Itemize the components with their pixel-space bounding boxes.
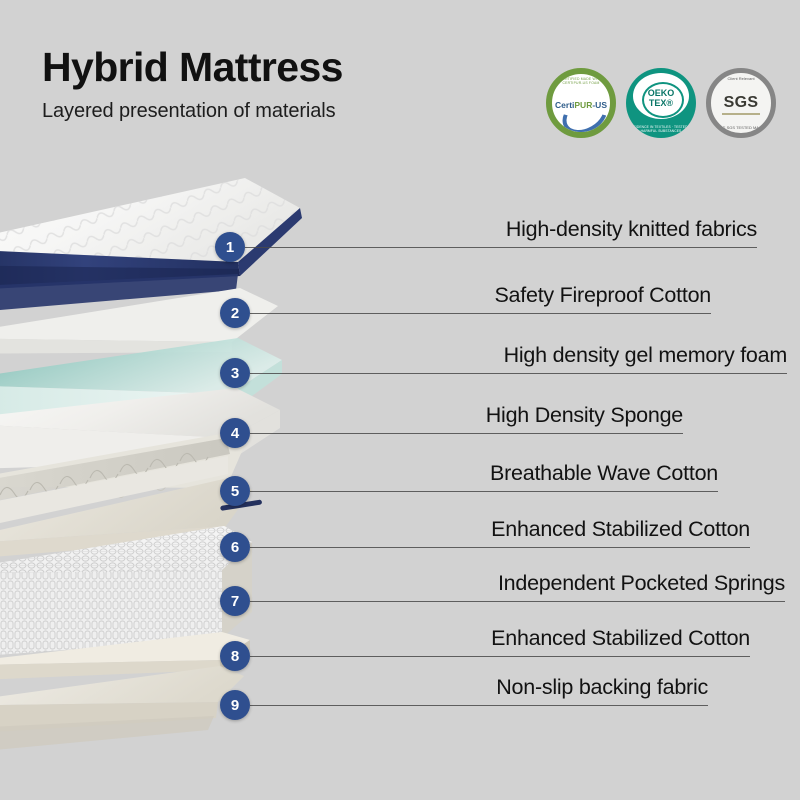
leader-line-8: [250, 656, 750, 657]
exploded-mattress-illustration: [0, 170, 330, 770]
marker-2[interactable]: 2: [220, 298, 250, 328]
marker-1[interactable]: 1: [215, 232, 245, 262]
marker-3[interactable]: 3: [220, 358, 250, 388]
leader-line-5: [250, 491, 718, 492]
callout-label-1: High-density knitted fabrics: [506, 217, 757, 242]
certipur-wordmark: CertiPUR-US: [552, 100, 610, 110]
marker-9[interactable]: 9: [220, 690, 250, 720]
certipur-suffix: -US: [592, 100, 607, 110]
leader-line-7: [250, 601, 785, 602]
callout-label-6: Enhanced Stabilized Cotton: [491, 517, 750, 542]
mattress-infographic-page: Hybrid Mattress Layered presentation of …: [0, 0, 800, 800]
sgs-ring-text-bot: THE SGS TESTED MARK: [711, 125, 771, 130]
oeko-line2: TEX®: [626, 99, 696, 109]
marker-6[interactable]: 6: [220, 532, 250, 562]
leader-line-4: [250, 433, 683, 434]
leader-line-2: [250, 313, 711, 314]
callout-label-3: High density gel memory foam: [504, 343, 787, 368]
leader-line-9: [250, 705, 708, 706]
callout-label-2: Safety Fireproof Cotton: [494, 283, 711, 308]
sgs-wordmark: SGS: [711, 94, 771, 112]
sgs-badge-icon: Client Relevant SGS THE SGS TESTED MARK: [706, 68, 776, 138]
oeko-wordmark: OEKO TEX®: [626, 89, 696, 108]
certipur-ring-text: CERTIFIED MADE WITH CERTIPUR-US FOAM: [552, 77, 610, 85]
page-title: Hybrid Mattress: [42, 46, 512, 89]
callout-label-8: Enhanced Stabilized Cotton: [491, 626, 750, 651]
callout-label-5: Breathable Wave Cotton: [490, 461, 718, 486]
certipur-swoosh-icon: [556, 88, 615, 138]
leader-line-1: [245, 247, 757, 248]
marker-5[interactable]: 5: [220, 476, 250, 506]
marker-7[interactable]: 7: [220, 586, 250, 616]
leader-line-6: [250, 547, 750, 548]
sgs-ring-text-top: Client Relevant: [711, 76, 771, 81]
sgs-underline-bar: [722, 113, 760, 115]
certipur-prefix: Certi: [555, 100, 574, 110]
marker-4[interactable]: 4: [220, 418, 250, 448]
oeko-tex-badge-icon: OEKO TEX® CONFIDENCE IN TEXTILES · TESTE…: [626, 68, 696, 138]
marker-8[interactable]: 8: [220, 641, 250, 671]
page-subtitle: Layered presentation of materials: [42, 100, 512, 123]
layer-nonslip-backing: [0, 666, 244, 756]
leader-line-3: [250, 373, 787, 374]
certipur-bold: PUR: [574, 100, 592, 110]
certipur-us-badge-icon: CERTIFIED MADE WITH CERTIPUR-US FOAM Cer…: [546, 68, 616, 138]
callout-label-9: Non-slip backing fabric: [496, 675, 708, 700]
callout-label-4: High Density Sponge: [486, 403, 683, 428]
header: Hybrid Mattress Layered presentation of …: [42, 46, 512, 123]
certification-badges: CERTIFIED MADE WITH CERTIPUR-US FOAM Cer…: [546, 68, 776, 138]
callout-label-7: Independent Pocketed Springs: [498, 571, 785, 596]
oeko-ring-text: CONFIDENCE IN TEXTILES · TESTED FOR HARM…: [626, 125, 696, 133]
